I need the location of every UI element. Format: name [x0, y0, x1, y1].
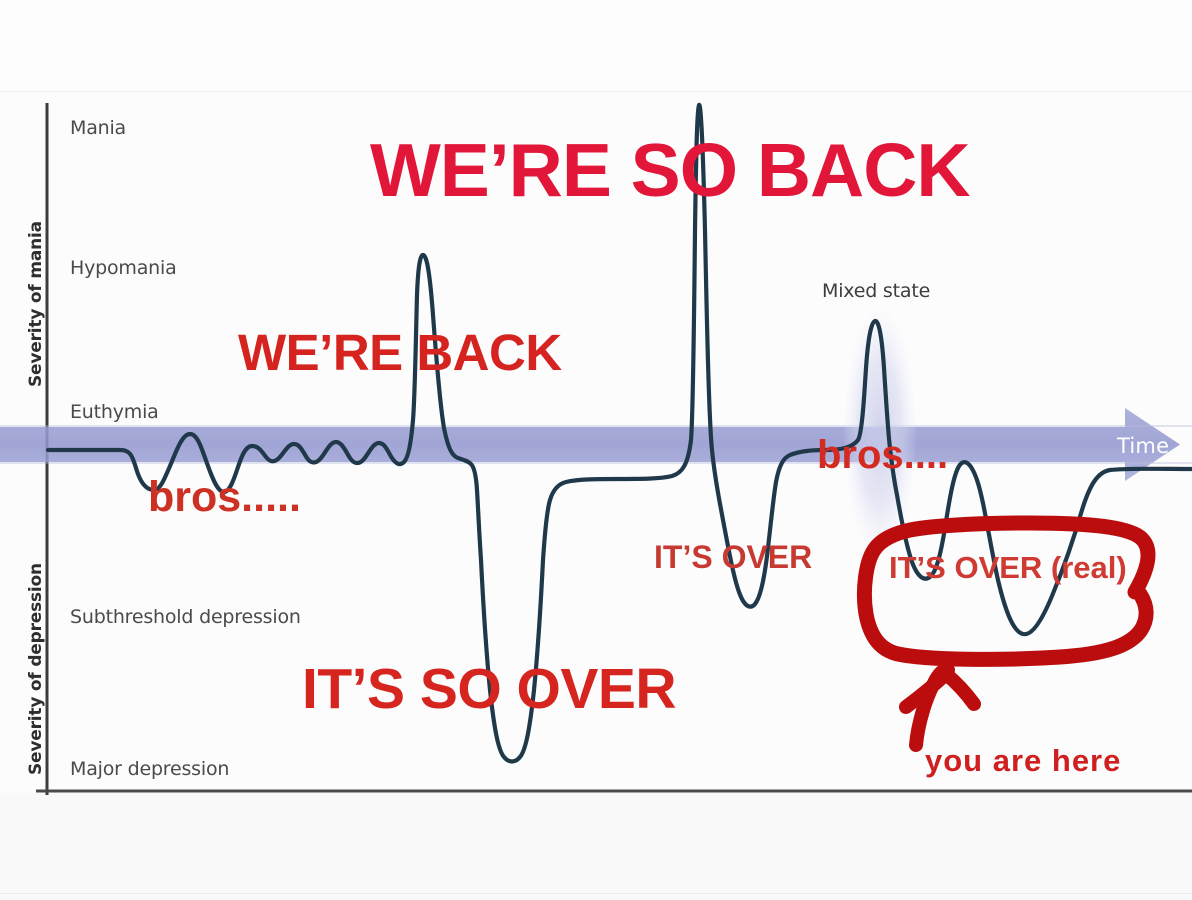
mixed-state-label: Mixed state — [822, 280, 930, 302]
meme-text-were-back: WE’RE BACK — [238, 327, 562, 378]
y-axis-title-mania: Severity of mania — [26, 221, 46, 387]
red-arrow-annotation — [906, 670, 974, 745]
meme-text-you-are-here: you are here — [925, 745, 1121, 776]
time-axis-label: Time — [1117, 434, 1169, 458]
meme-text-were-so-back: WE’RE SO BACK — [370, 133, 970, 208]
meme-text-bros-second: bros.... — [817, 435, 948, 475]
time-arrow-band — [0, 408, 1180, 481]
y-axis-title-depression: Severity of depression — [26, 563, 46, 775]
meme-text-its-over-real: IT’S OVER (real) — [889, 552, 1127, 583]
tier-label-hypomania: Hypomania — [70, 257, 177, 279]
tier-label-major-depression: Major depression — [70, 758, 229, 780]
tier-label-subthreshold-depression: Subthreshold depression — [70, 606, 301, 628]
meme-text-its-over: IT’S OVER — [654, 541, 812, 573]
meme-text-bros-first: bros..... — [148, 476, 301, 519]
tier-label-mania: Mania — [70, 117, 126, 139]
mixed-state-halo — [844, 310, 916, 554]
tier-label-euthymia: Euthymia — [70, 401, 159, 423]
meme-text-its-so-over: IT’S SO OVER — [302, 661, 676, 718]
meme-canvas: Severity of mania Severity of depression… — [0, 0, 1192, 900]
